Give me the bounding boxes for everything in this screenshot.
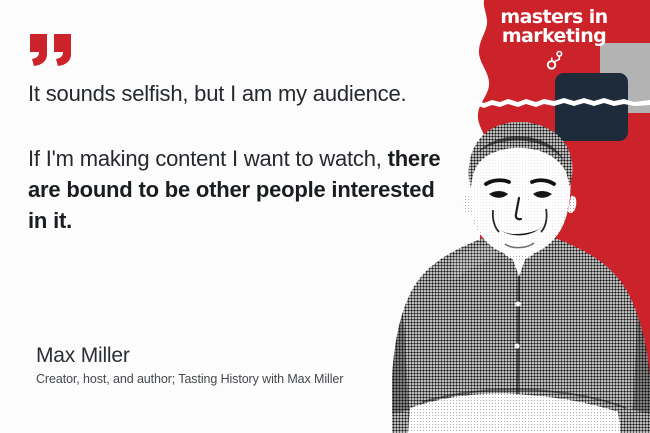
attribution: Max Miller Creator, host, and author; Ta… [36,343,436,387]
quote-body: It sounds selfish, but I am my audience.… [28,78,448,236]
masters-in-marketing-logo: masters in marketing [484,8,624,71]
quote-paragraph-2-regular: If I'm making content I want to watch, [28,146,388,171]
quote-paragraph-1: It sounds selfish, but I am my audience. [28,78,448,109]
logo-line-2: marketing [484,27,624,46]
quote-paragraph-2: If I'm making content I want to watch, t… [28,143,448,236]
quote-card: masters in marketing [0,0,650,433]
hubspot-sprocket-icon [484,49,624,71]
quote-mark-icon [28,32,74,66]
attribution-name: Max Miller [36,343,436,369]
attribution-role: Creator, host, and author; Tasting Histo… [36,371,436,387]
